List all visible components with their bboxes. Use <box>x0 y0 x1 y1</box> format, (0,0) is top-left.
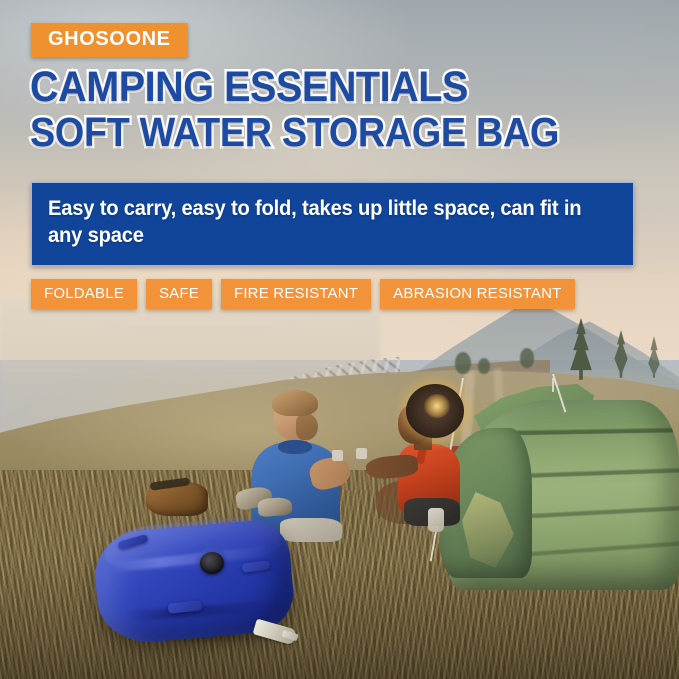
man-collar <box>278 440 312 454</box>
subtitle-text: Easy to carry, easy to fold, takes up li… <box>48 196 594 250</box>
brand-badge: GHOSOONE <box>31 23 188 57</box>
product-banner: GHOSOONE CAMPING ESSENTIALS SOFT WATER S… <box>0 0 679 679</box>
headline-line-1: CAMPING ESSENTIALS <box>30 66 600 110</box>
shrub <box>455 352 471 374</box>
blue-water-storage-bag <box>96 520 304 650</box>
headline-line-2: SOFT WATER STORAGE BAG <box>30 112 600 154</box>
feature-tag-abrasion-resistant: ABRASION RESISTANT <box>380 279 574 309</box>
feature-tag-fire-resistant: FIRE RESISTANT <box>221 279 371 309</box>
woman-hair-sun-glow <box>424 394 450 418</box>
subtitle-bar: Easy to carry, easy to fold, takes up li… <box>31 182 634 266</box>
camp-cup <box>356 448 367 459</box>
shrub <box>520 348 534 368</box>
hiking-boot <box>257 497 292 517</box>
headline: CAMPING ESSENTIALS SOFT WATER STORAGE BA… <box>30 66 650 154</box>
brand-name: GHOSOONE <box>48 29 171 49</box>
feature-tag-safe: SAFE <box>146 279 212 309</box>
feature-tag-row: FOLDABLE SAFE FIRE RESISTANT ABRASION RE… <box>31 279 575 309</box>
feature-tag-foldable: FOLDABLE <box>31 279 137 309</box>
man-hair <box>272 390 318 416</box>
camp-cup <box>332 450 343 461</box>
man-beard <box>296 414 318 440</box>
seated-woman <box>370 388 480 540</box>
water-bottle <box>428 508 444 532</box>
